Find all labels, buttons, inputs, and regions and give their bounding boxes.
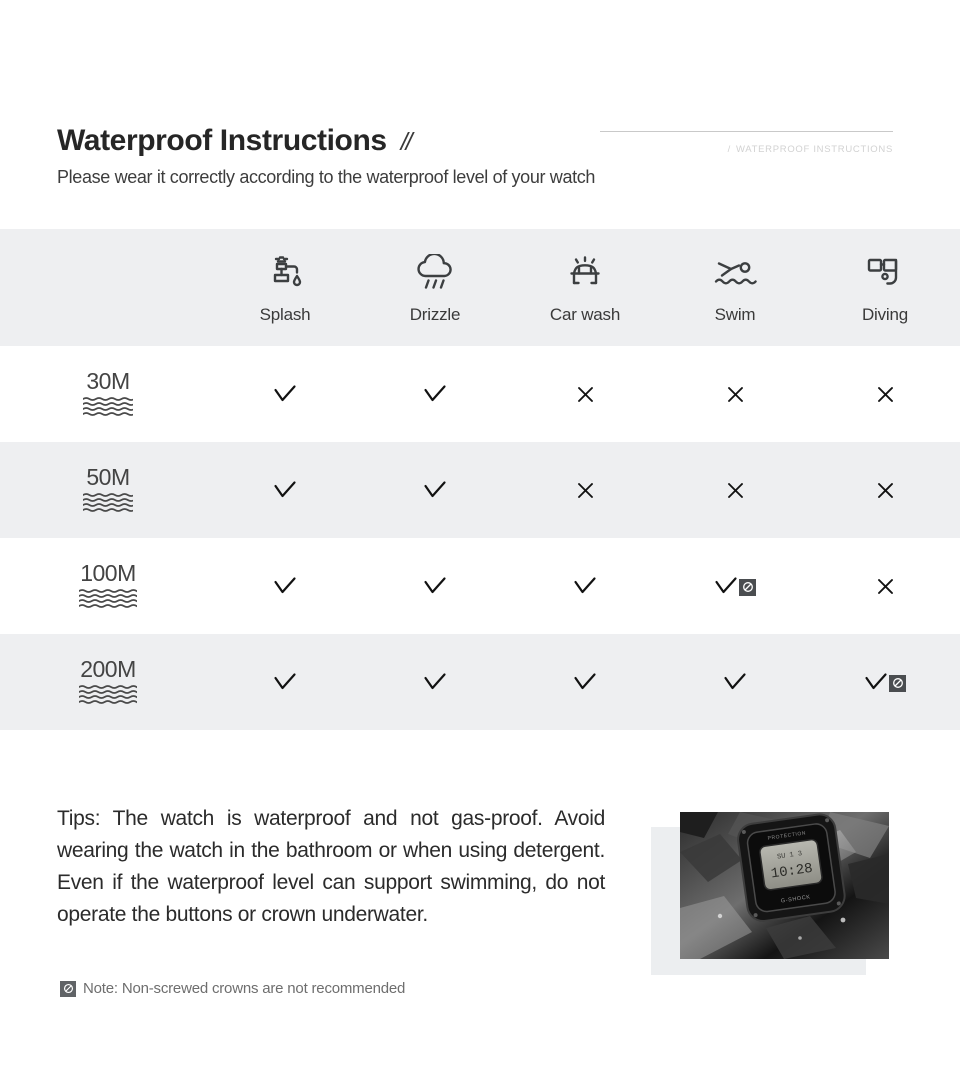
note-block: Note: Non-screwed crowns are not recomme…	[60, 980, 405, 997]
swimmer-icon	[711, 250, 759, 292]
row-depth-cell: 30M	[0, 370, 210, 418]
check-icon	[273, 576, 297, 596]
column-header-drizzle-label: Drizzle	[410, 305, 461, 325]
column-header-drizzle: Drizzle	[360, 250, 510, 325]
title-slashes-decor: //	[401, 128, 411, 157]
row-depth-cell: 50M	[0, 466, 210, 514]
cell-car-wash-200m	[510, 672, 660, 692]
cross-icon	[727, 482, 744, 499]
check-icon	[723, 672, 747, 692]
check-icon	[864, 672, 888, 692]
cell-splash-200m	[210, 672, 360, 692]
water-waves-icon	[83, 396, 133, 418]
tips-text: Tips: The watch is waterproof and not ga…	[57, 803, 605, 931]
column-header-splash: Splash	[210, 250, 360, 325]
water-waves-icon	[79, 684, 137, 706]
table-body: 30M50M100M200M	[0, 346, 960, 730]
check-icon	[423, 384, 447, 404]
water-waves-icon	[79, 588, 137, 610]
row-depth-cell: 100M	[0, 562, 210, 610]
cell-diving-100m	[810, 578, 960, 595]
column-header-car-wash-label: Car wash	[550, 305, 620, 325]
table-row: 30M	[0, 346, 960, 442]
water-waves-icon	[83, 492, 133, 514]
depth-rating-label: 50M	[86, 466, 129, 489]
diving-mask-snorkel-icon	[863, 250, 907, 292]
column-header-splash-label: Splash	[260, 305, 311, 325]
cell-car-wash-50m	[510, 482, 660, 499]
waterproof-level-table: Splash Drizzle	[0, 229, 960, 730]
table-row: 100M	[0, 538, 960, 634]
tips-block: Tips: The watch is waterproof and not ga…	[57, 803, 605, 931]
depth-rating-label: 200M	[80, 658, 136, 681]
cell-swim-50m	[660, 482, 810, 499]
cell-drizzle-50m	[360, 480, 510, 500]
cell-swim-200m	[660, 672, 810, 692]
cell-diving-200m	[810, 672, 960, 692]
depth-rating-badge: 30M	[83, 370, 133, 418]
column-header-diving: Diving	[810, 250, 960, 325]
cell-drizzle-30m	[360, 384, 510, 404]
cell-diving-30m	[810, 386, 960, 403]
cross-icon	[877, 482, 894, 499]
page-title: Waterproof Instructions	[57, 124, 387, 158]
check-icon	[423, 672, 447, 692]
table-row: 50M	[0, 442, 960, 538]
title-block: Waterproof Instructions // Please wear i…	[57, 124, 595, 188]
cell-swim-100m	[660, 576, 810, 596]
depth-rating-label: 100M	[80, 562, 136, 585]
cell-drizzle-200m	[360, 672, 510, 692]
kicker-label: WATERPROOF INSTRUCTIONS	[736, 144, 893, 155]
photo-area: SU 1 3 10:28 PROTECTION G-SHOCK	[651, 812, 911, 987]
check-icon	[573, 576, 597, 596]
row-depth-cell: 200M	[0, 658, 210, 706]
cell-car-wash-30m	[510, 386, 660, 403]
cross-icon	[727, 386, 744, 403]
cell-car-wash-100m	[510, 576, 660, 596]
depth-rating-label: 30M	[86, 370, 129, 393]
page-subtitle: Please wear it correctly according to th…	[57, 167, 595, 188]
column-header-swim-label: Swim	[715, 305, 756, 325]
waterproof-instructions-page: Waterproof Instructions // Please wear i…	[0, 0, 960, 1083]
car-wash-icon	[563, 250, 607, 292]
depth-rating-badge: 100M	[79, 562, 137, 610]
note-text: Note: Non-screwed crowns are not recomme…	[83, 980, 405, 997]
faucet-icon	[265, 250, 305, 292]
depth-rating-badge: 50M	[83, 466, 133, 514]
cross-icon	[577, 482, 594, 499]
cell-splash-100m	[210, 576, 360, 596]
column-header-car-wash: Car wash	[510, 250, 660, 325]
table-header-row: Splash Drizzle	[0, 229, 960, 346]
cell-splash-50m	[210, 480, 360, 500]
check-icon	[273, 672, 297, 692]
cell-splash-30m	[210, 384, 360, 404]
cross-icon	[577, 386, 594, 403]
digital-watch-water-splash-photo: SU 1 3 10:28 PROTECTION G-SHOCK	[680, 812, 889, 959]
check-icon	[573, 672, 597, 692]
no-entry-badge-icon	[60, 981, 76, 997]
check-icon	[273, 480, 297, 500]
check-icon	[423, 480, 447, 500]
cross-icon	[877, 386, 894, 403]
kicker-slash: /	[728, 144, 731, 155]
cell-diving-50m	[810, 482, 960, 499]
page-header: Waterproof Instructions // Please wear i…	[0, 0, 960, 226]
check-icon	[273, 384, 297, 404]
cell-drizzle-100m	[360, 576, 510, 596]
no-entry-badge-icon	[889, 675, 906, 692]
check-icon	[423, 576, 447, 596]
depth-rating-badge: 200M	[79, 658, 137, 706]
column-header-swim: Swim	[660, 250, 810, 325]
rain-cloud-icon	[413, 250, 457, 292]
header-kicker-block: /WATERPROOF INSTRUCTIONS	[600, 131, 893, 155]
cross-icon	[877, 578, 894, 595]
cell-swim-30m	[660, 386, 810, 403]
column-header-diving-label: Diving	[862, 305, 908, 325]
no-entry-badge-icon	[739, 579, 756, 596]
header-divider-line	[600, 131, 893, 132]
header-kicker: /WATERPROOF INSTRUCTIONS	[600, 144, 893, 155]
table-row: 200M	[0, 634, 960, 730]
check-icon	[714, 576, 738, 596]
